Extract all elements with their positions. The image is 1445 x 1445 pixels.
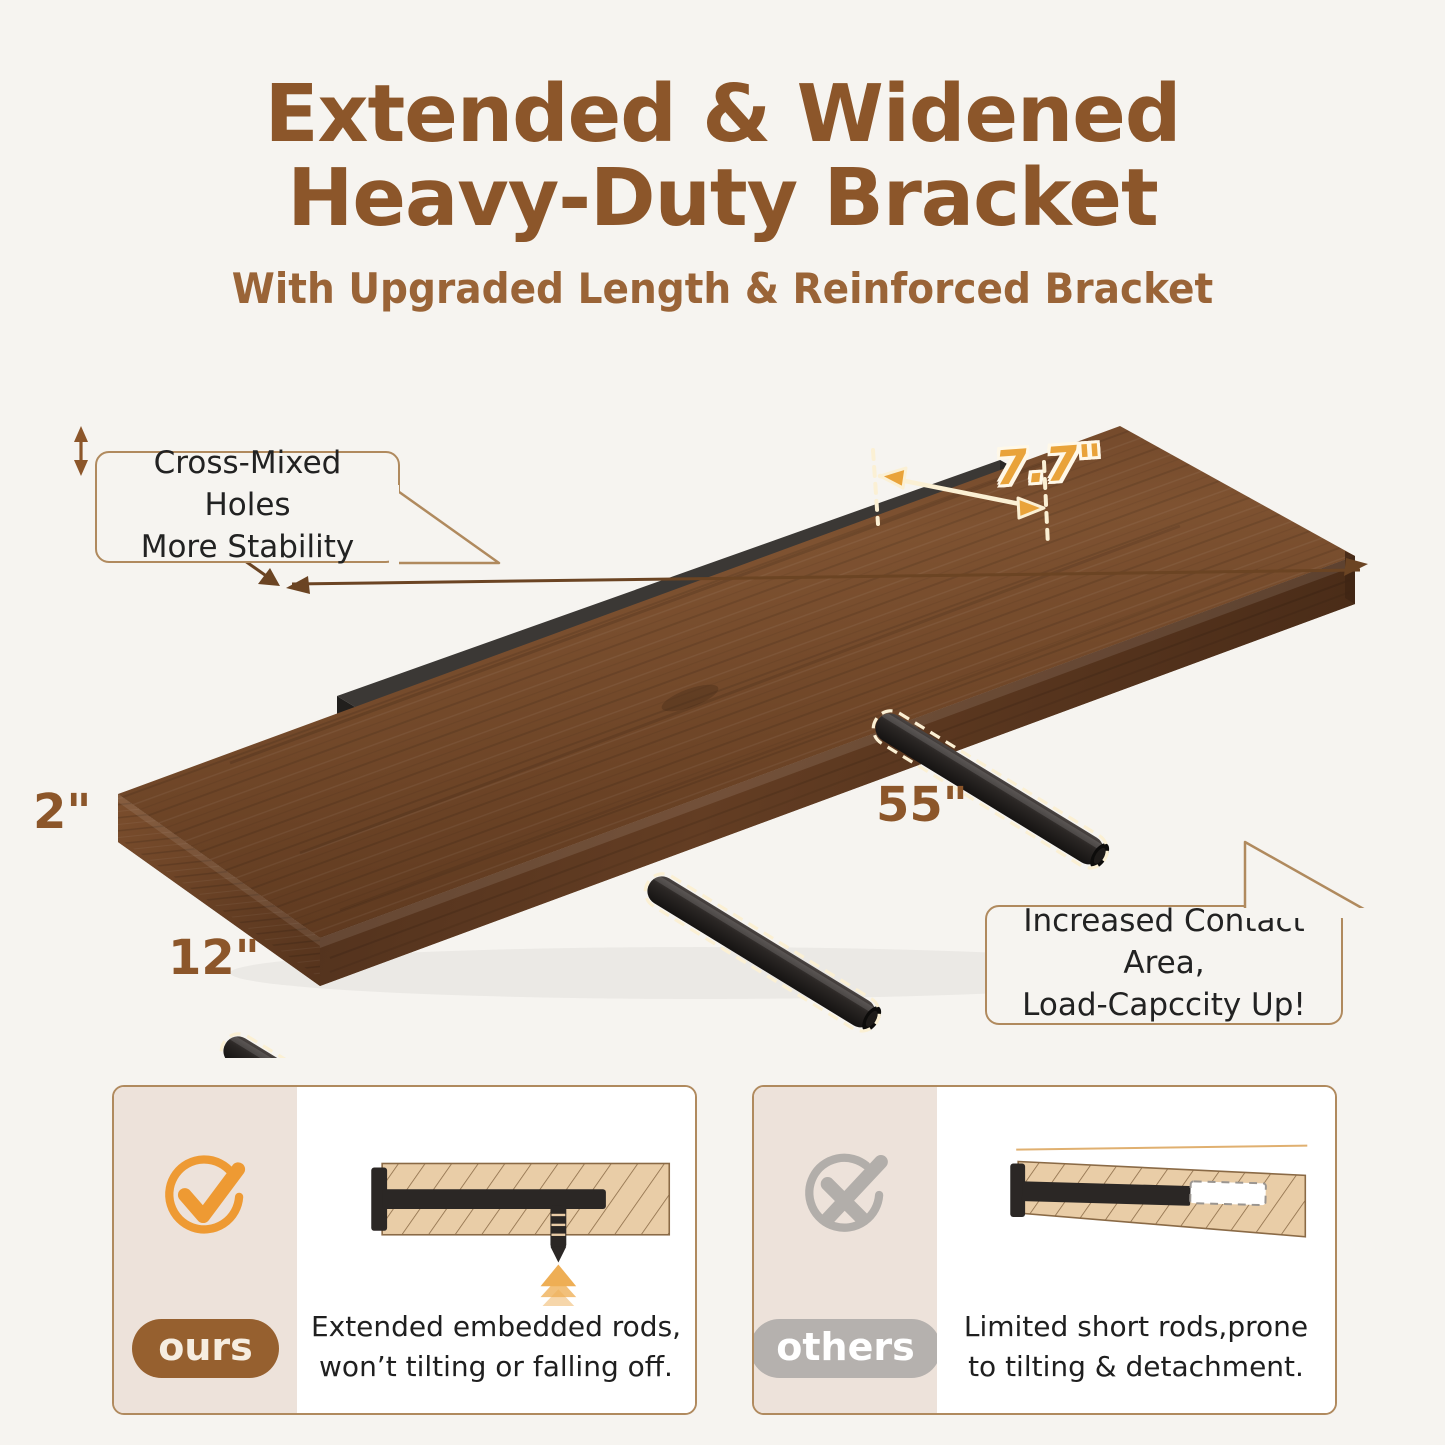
screw-icon: [550, 1205, 566, 1262]
callout-left-line-1: Cross-Mixed Holes: [109, 442, 386, 526]
diagram-short-rod-tilted-board: [937, 1117, 1335, 1307]
badge-ours: ours: [132, 1319, 279, 1378]
dimension-label-length: 55": [876, 777, 968, 833]
x-circle-icon: [800, 1149, 892, 1241]
dimension-label-depth: 12": [168, 930, 260, 986]
dimension-label-thickness: 2": [33, 784, 91, 840]
others-caption-line-2: to tilting & detachment.: [947, 1347, 1325, 1387]
callout-right-line-2: Load-Capccity Up!: [1022, 984, 1306, 1026]
callout-increased-contact-area: Increased Contact Area, Load-Capccity Up…: [985, 905, 1343, 1025]
callout-cross-mixed-holes: Cross-Mixed Holes More Stability: [95, 451, 400, 563]
infographic-canvas: Extended & Widened Heavy-Duty Bracket Wi…: [0, 0, 1445, 1445]
empty-cavity: [1190, 1181, 1266, 1205]
diagram-long-rod-with-screw: [297, 1117, 695, 1307]
title-line-2: Heavy-Duty Bracket: [0, 156, 1445, 240]
panel-ours-body: Extended embedded rods, won’t tilting or…: [297, 1087, 695, 1413]
support-rod-1: [215, 1027, 463, 1058]
panel-others-side: others: [754, 1087, 937, 1413]
panel-ours-side: ours: [114, 1087, 297, 1413]
comparison-panel-ours: ours: [112, 1085, 697, 1415]
ours-caption-line-1: Extended embedded rods,: [307, 1307, 685, 1347]
panel-others-caption: Limited short rods,prone to tilting & de…: [937, 1307, 1335, 1387]
header-block: Extended & Widened Heavy-Duty Bracket Wi…: [0, 72, 1445, 314]
level-guide-line: [1016, 1146, 1307, 1150]
force-arrows-icon: [541, 1264, 577, 1306]
thickness-dimension: [74, 426, 88, 476]
badge-others: others: [752, 1319, 941, 1378]
subtitle: With Upgraded Length & Reinforced Bracke…: [51, 264, 1395, 314]
ours-caption-line-2: won’t tilting or falling off.: [307, 1347, 685, 1387]
dimension-label-rod-length: 7.7": [993, 434, 1104, 496]
comparison-section: ours: [0, 1085, 1445, 1420]
title-line-1: Extended & Widened: [0, 72, 1445, 156]
panel-ours-caption: Extended embedded rods, won’t tilting or…: [297, 1307, 695, 1387]
rod-shaft: [382, 1189, 606, 1209]
others-caption-line-1: Limited short rods,prone: [947, 1307, 1325, 1347]
callout-left-line-2: More Stability: [141, 526, 355, 568]
comparison-panel-others: others: [752, 1085, 1337, 1415]
panel-others-body: Limited short rods,prone to tilting & de…: [937, 1087, 1335, 1413]
callout-right-line-1: Increased Contact Area,: [999, 900, 1329, 984]
check-circle-icon: [160, 1149, 252, 1241]
